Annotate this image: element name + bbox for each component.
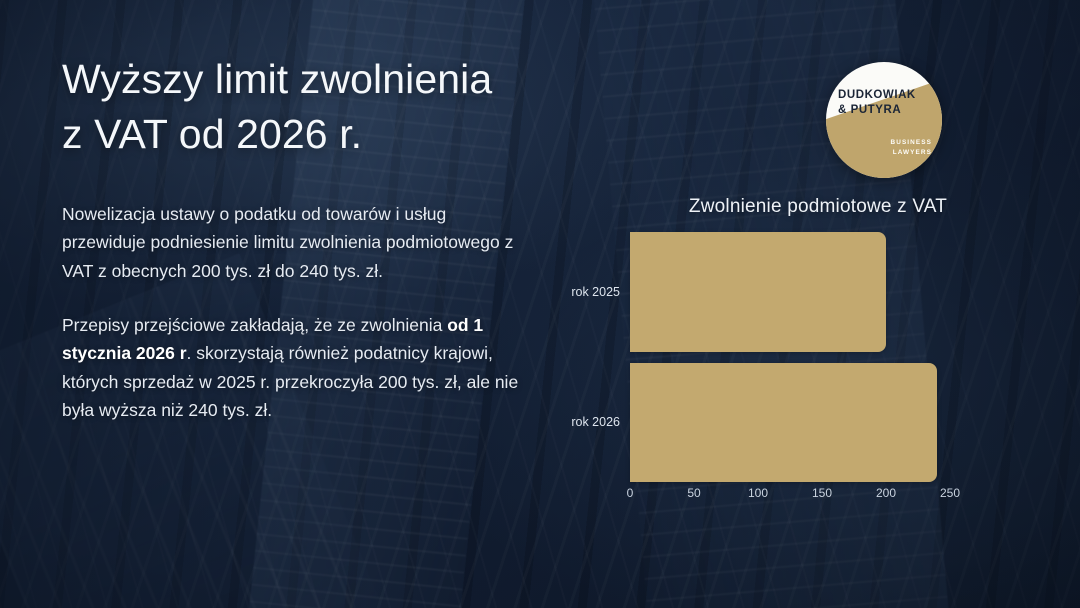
chart-plot-area: rok 2025rok 2026 050100150200250 bbox=[630, 232, 960, 485]
page-title: Wyższy limit zwolnienia z VAT od 2026 r. bbox=[62, 52, 602, 161]
paragraph-2: Przepisy przejściowe zakładają, że ze zw… bbox=[62, 311, 532, 424]
page-title-line-2: z VAT od 2026 r. bbox=[62, 107, 602, 162]
chart-bar bbox=[630, 232, 886, 352]
chart-x-tick-label: 0 bbox=[627, 486, 634, 500]
body-copy: Nowelizacja ustawy o podatku od towarów … bbox=[62, 200, 532, 424]
chart-bar-row: rok 2025 bbox=[630, 232, 950, 352]
paragraph-2-text-before: Przepisy przejściowe zakładają, że ze zw… bbox=[62, 315, 447, 335]
chart-category-label: rok 2026 bbox=[571, 415, 620, 429]
chart-x-tick-label: 200 bbox=[876, 486, 896, 500]
slide-canvas: Wyższy limit zwolnienia z VAT od 2026 r.… bbox=[0, 0, 1080, 608]
logo-company-name: DUDKOWIAK & PUTYRA bbox=[838, 88, 934, 118]
chart-category-label: rok 2025 bbox=[571, 285, 620, 299]
paragraph-1: Nowelizacja ustawy o podatku od towarów … bbox=[62, 200, 532, 285]
chart-x-tick-label: 50 bbox=[687, 486, 700, 500]
chart-x-tick-label: 250 bbox=[940, 486, 960, 500]
chart-bar-row: rok 2026 bbox=[630, 363, 950, 483]
chart-x-tick-label: 150 bbox=[812, 486, 832, 500]
logo-name-line-1: DUDKOWIAK bbox=[838, 88, 934, 103]
logo-tagline-line-1: BUSINESS bbox=[826, 138, 932, 148]
logo-tagline: BUSINESS LAWYERS bbox=[826, 138, 932, 158]
logo-tagline-line-2: LAWYERS bbox=[826, 148, 932, 158]
chart-x-tick-label: 100 bbox=[748, 486, 768, 500]
paragraph-spacer bbox=[62, 285, 532, 311]
chart-title: Zwolnienie podmiotowe z VAT bbox=[648, 196, 988, 218]
company-logo: DUDKOWIAK & PUTYRA BUSINESS LAWYERS bbox=[826, 62, 942, 178]
chart-bars: rok 2025rok 2026 bbox=[630, 232, 950, 482]
chart-x-axis: 050100150200250 bbox=[630, 486, 960, 510]
bar-chart: Zwolnienie podmiotowe z VAT rok 2025rok … bbox=[540, 196, 1010, 496]
page-title-line-1: Wyższy limit zwolnienia bbox=[62, 52, 602, 107]
chart-bar bbox=[630, 363, 937, 483]
logo-name-line-2: & PUTYRA bbox=[838, 103, 934, 118]
